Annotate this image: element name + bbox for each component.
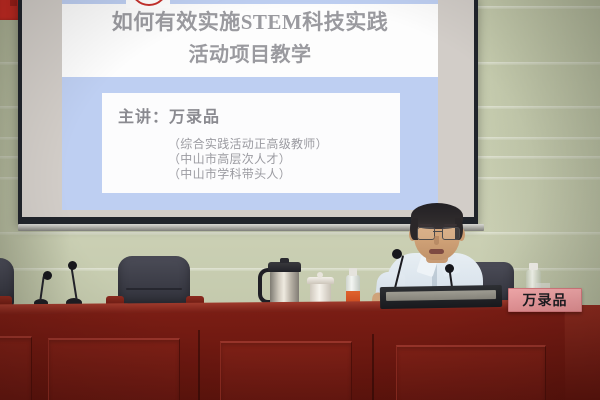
slide-credentials: （综合实践活动正高级教师） （中山市高层次人才） （中山市学科带头人） [168,137,328,182]
thermos-knob [280,258,289,263]
slide-title-line-2: 活动项目教学 [62,39,438,72]
chair-center [118,256,190,308]
water-bottle-left-cap [349,268,357,276]
speaker-glasses-bridge [433,231,442,232]
microphone-speaker-head [392,249,402,259]
slide-speaker-card: 主讲：万录品 （综合实践活动正高级教师） （中山市高层次人才） （中山市学科带头… [102,93,400,193]
credential-line: （中山市高层次人才） [168,152,328,167]
credential-line: （综合实践活动正高级教师） [168,137,328,152]
speaker-eyebrow-left [419,224,432,226]
presentation-photo: 如何有效实施STEM科技实践 活动项目教学 主讲：万录品 （综合实践活动正高级教… [0,0,600,400]
red-banner-fold [10,0,17,6]
water-bottle-right-cap [529,263,538,270]
laptop-device-strip [386,290,496,301]
speaker-nose [434,236,439,245]
credential-line: （中山市学科带头人） [168,167,328,182]
microphone-speaker-head-2 [445,264,454,273]
desk-panel [0,336,32,400]
ceramic-jar-lid [307,277,334,284]
microphone-left-head [68,261,77,270]
slide-speaker-label: 主讲：万录品 [118,103,220,127]
nameplate-text: 万录品 [523,290,568,310]
ceramic-jar-knob [317,272,323,278]
presentation-slide: 如何有效实施STEM科技实践 活动项目教学 主讲：万录品 （综合实践活动正高级教… [62,0,438,210]
speaker-glasses-left-lens [417,227,435,240]
speaker-mouth [429,249,444,254]
projection-screen-surface: 如何有效实施STEM科技实践 活动项目教学 主讲：万录品 （综合实践活动正高级教… [22,0,474,217]
desk-panel [48,338,180,400]
slide-title-line-1: 如何有效实施STEM科技实践 [62,6,438,39]
desk-panel [396,345,546,400]
thermos-lid [268,262,301,272]
slide-title: 如何有效实施STEM科技实践 活动项目教学 [62,6,438,72]
microphone-far-left-head [43,271,52,280]
nameplate: 万录品 [508,288,582,312]
speaker-eyebrow-right [444,224,457,226]
desk-panel [220,341,352,400]
speaker-glasses-right-lens [442,227,460,240]
